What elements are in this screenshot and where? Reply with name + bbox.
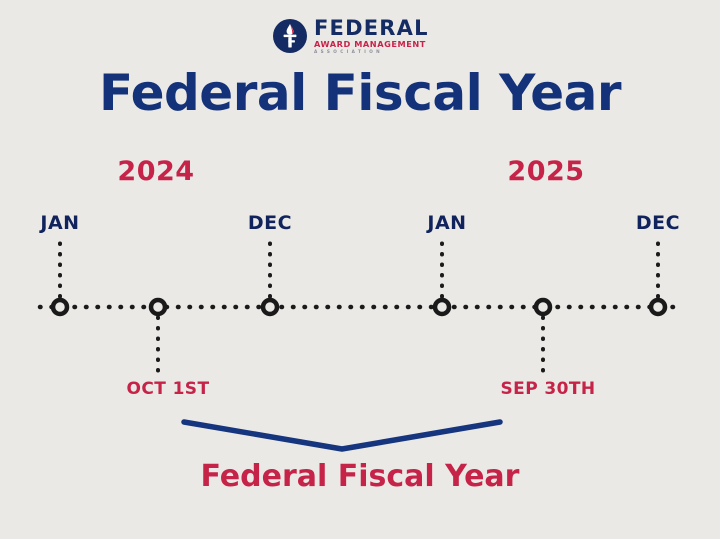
logo-line-federal: FEDERAL: [314, 18, 429, 39]
month-label-dec-2024: DEC: [248, 212, 292, 234]
date-label-sep-30th: SEP 30TH: [501, 379, 596, 399]
month-label-jan-2025: JAN: [427, 212, 466, 234]
brand-logo[interactable]: FEDERAL AWARD MANAGEMENT ASSOCIATION: [272, 18, 429, 54]
bottom-caption: Federal Fiscal Year: [0, 459, 720, 494]
year-label-2024: 2024: [117, 156, 194, 187]
timeline-marker-dec-2024[interactable]: [263, 300, 277, 314]
fiscal-year-bracket: [184, 422, 500, 449]
timeline-marker-oct-1st[interactable]: [151, 300, 165, 314]
logo-line-association: ASSOCIATION: [314, 50, 429, 54]
year-label-2025: 2025: [507, 156, 584, 187]
timeline-marker-sep-30th[interactable]: [536, 300, 550, 314]
infographic-canvas: FEDERAL AWARD MANAGEMENT ASSOCIATION Fed…: [0, 0, 720, 539]
logo-wordmark: FEDERAL AWARD MANAGEMENT ASSOCIATION: [314, 18, 429, 54]
logo-line-award-management: AWARD MANAGEMENT: [314, 40, 429, 48]
timeline-marker-jan-2024[interactable]: [53, 300, 67, 314]
torch-circle-icon: [272, 18, 308, 54]
timeline-marker-dec-2025[interactable]: [651, 300, 665, 314]
date-label-oct-1st: OCT 1ST: [127, 379, 210, 399]
month-label-dec-2025: DEC: [636, 212, 680, 234]
timeline-marker-jan-2025[interactable]: [435, 300, 449, 314]
page-title: Federal Fiscal Year: [0, 64, 720, 122]
month-label-jan-2024: JAN: [40, 212, 79, 234]
